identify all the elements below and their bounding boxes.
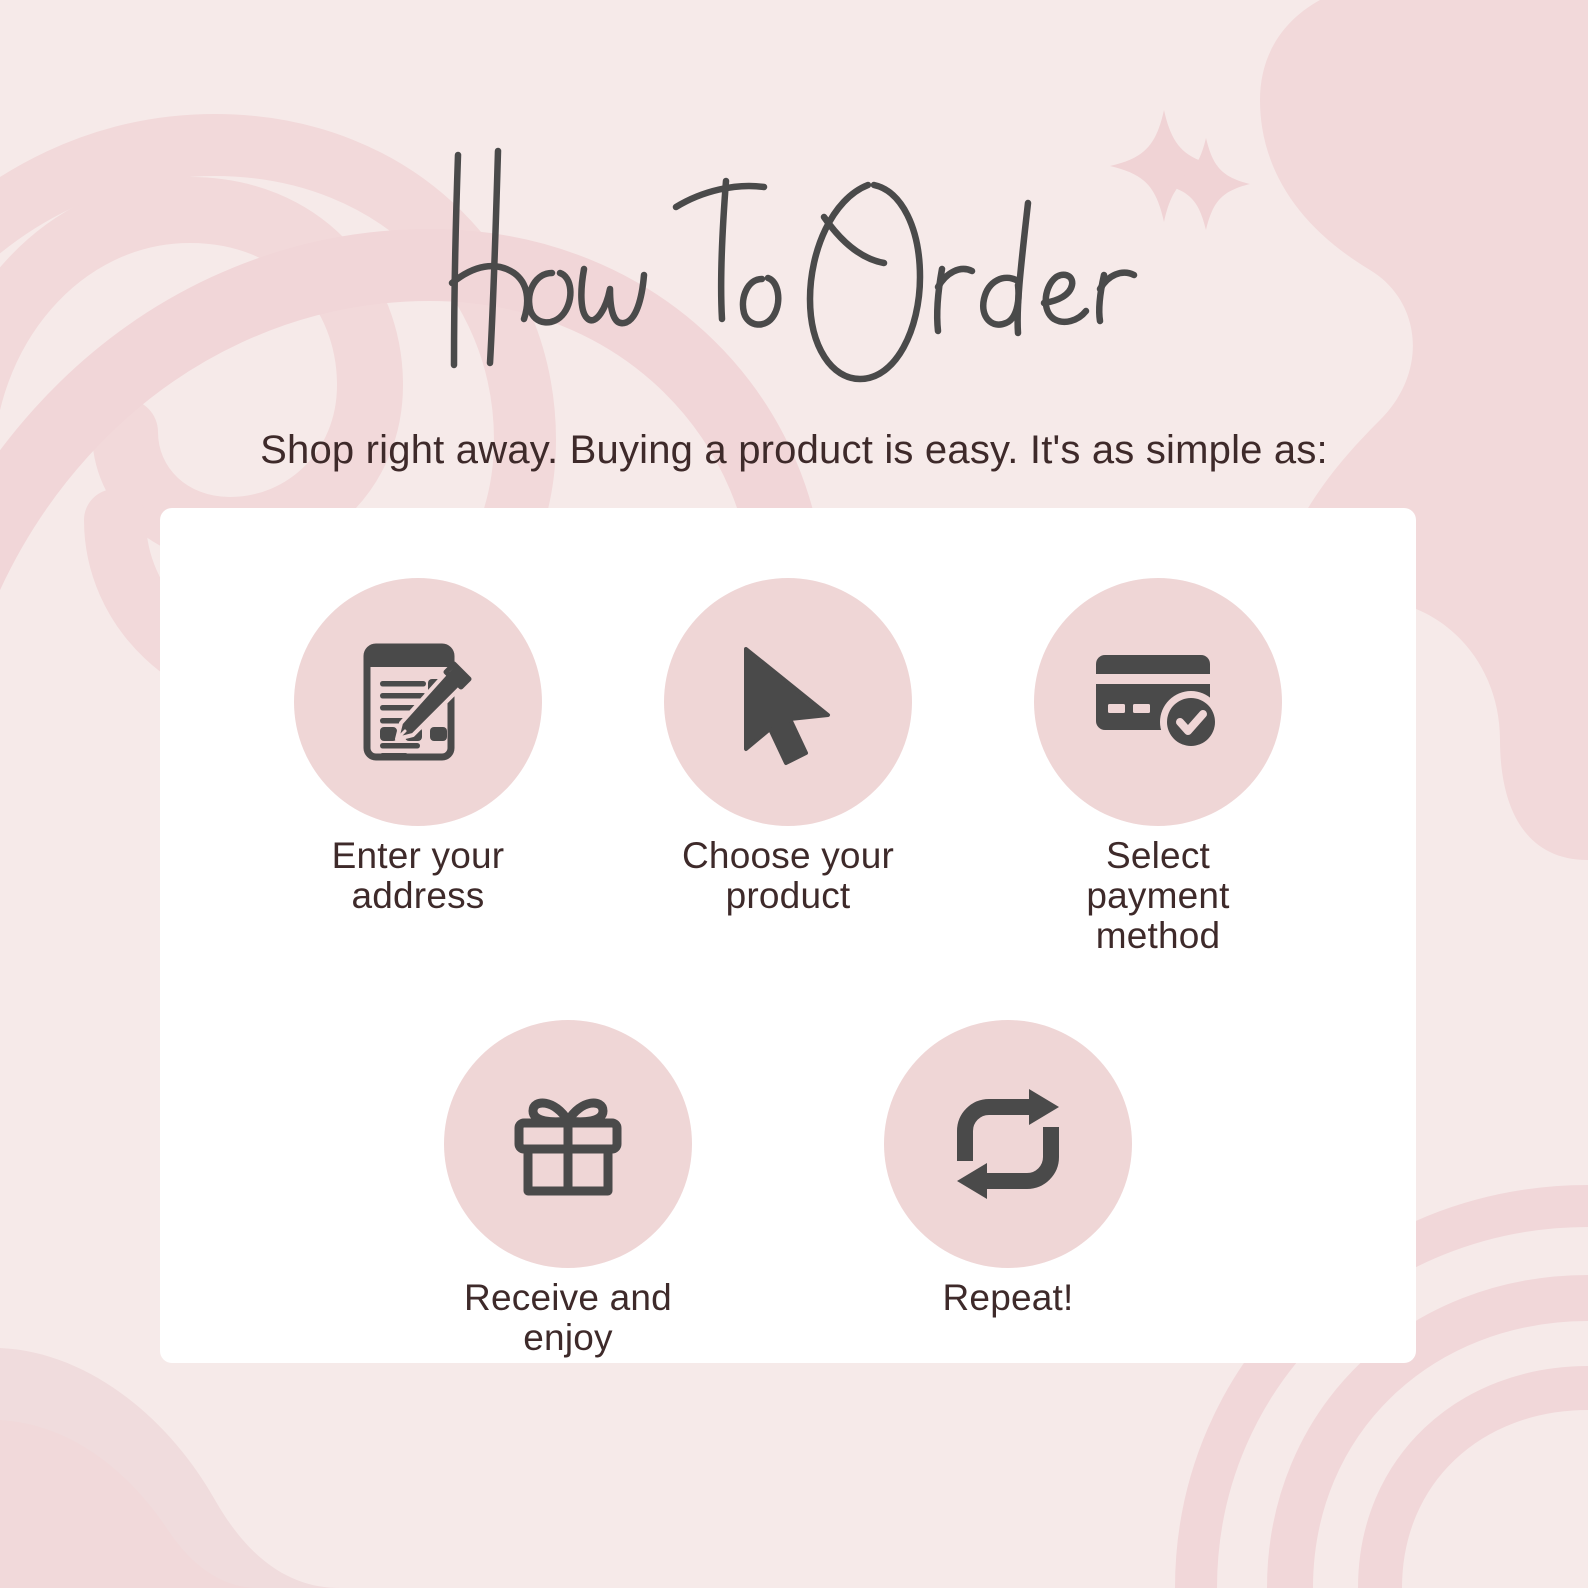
page-subtitle: Shop right away. Buying a product is eas… (0, 428, 1588, 473)
cursor-arrow-icon (728, 637, 848, 767)
step-select-payment[interactable]: Select payment method (1033, 578, 1283, 956)
step-icon-bubble (664, 578, 912, 826)
step-label: Choose your product (663, 836, 913, 916)
steps-container: Enter your address Choose your product (160, 508, 1416, 1363)
step-receive-enjoy[interactable]: Receive and enjoy (443, 1020, 693, 1358)
step-label: Select payment method (1033, 836, 1283, 956)
steps-row-1: Enter your address Choose your product (220, 578, 1356, 956)
step-icon-bubble (294, 578, 542, 826)
step-label: Receive and enjoy (443, 1278, 693, 1358)
curved-blob-bottom-left-2 (0, 1420, 258, 1588)
page-title: How to Order (0, 118, 1588, 418)
credit-card-check-icon (1088, 642, 1228, 762)
poster: How to Order (0, 0, 1588, 1588)
step-label: Repeat! (943, 1278, 1074, 1318)
step-icon-bubble (1034, 578, 1282, 826)
step-icon-bubble (444, 1020, 692, 1268)
form-pencil-icon (353, 637, 483, 767)
step-choose-product[interactable]: Choose your product (663, 578, 913, 916)
step-repeat[interactable]: Repeat! (883, 1020, 1133, 1318)
curved-blob-bottom-left (0, 1348, 340, 1588)
repeat-loop-icon (943, 1079, 1073, 1209)
page-title-script: How to Order (444, 133, 1144, 403)
step-icon-bubble (884, 1020, 1132, 1268)
step-label: Enter your address (293, 836, 543, 916)
gift-box-icon (503, 1079, 633, 1209)
step-enter-address[interactable]: Enter your address (293, 578, 543, 916)
steps-row-2: Receive and enjoy Repeat! (220, 1020, 1356, 1358)
